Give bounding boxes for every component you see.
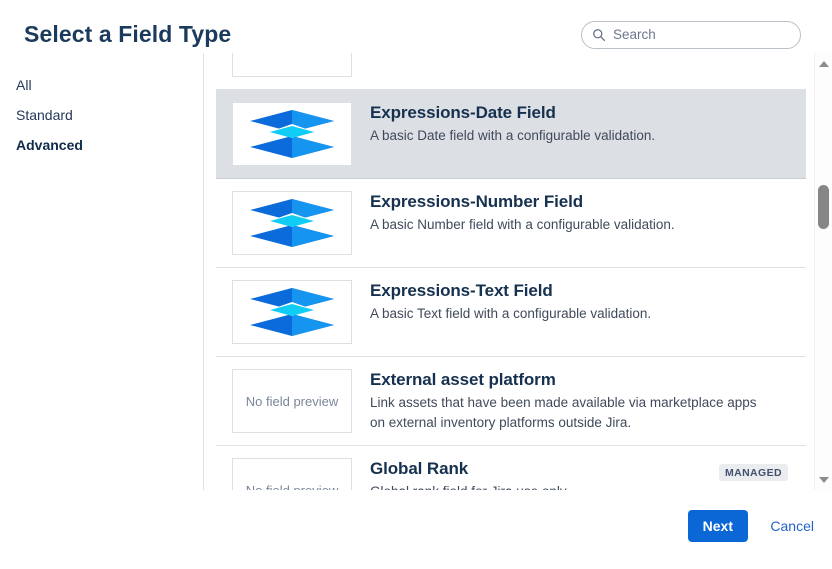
search-box[interactable] [581, 21, 801, 49]
field-type-description: Global rank field for Jira use only. [370, 482, 760, 490]
expressions-layers-icon [246, 108, 338, 160]
field-text: Expressions-Text Field A basic Text fiel… [370, 280, 806, 324]
scroll-down-arrow-icon[interactable] [815, 471, 832, 488]
page-title: Select a Field Type [24, 21, 231, 48]
expressions-layers-icon [246, 197, 338, 249]
list-scrollbar[interactable] [814, 53, 832, 490]
red-shapes-icon [233, 53, 351, 67]
field-text: Expressions-Number Field A basic Number … [370, 191, 806, 235]
field-type-list: Expressions-Date Field A basic Date fiel… [216, 53, 806, 490]
field-type-name: Expressions-Number Field [370, 191, 792, 213]
field-type-name: External asset platform [370, 369, 792, 391]
sidebar-item-standard[interactable]: Standard [0, 107, 203, 123]
dialog-footer: Next Cancel [0, 490, 832, 569]
search-input[interactable] [613, 26, 790, 44]
field-type-description: A basic Number field with a configurable… [370, 215, 760, 235]
field-text: External asset platform Link assets that… [370, 369, 806, 433]
field-preview-thumbnail [232, 53, 352, 77]
field-type-description: A basic Date field with a configurable v… [370, 126, 760, 146]
status-badge-managed: MANAGED [719, 464, 788, 481]
cancel-button[interactable]: Cancel [770, 518, 814, 534]
field-type-list-inner: Expressions-Date Field A basic Date fiel… [216, 53, 806, 490]
expressions-layers-icon [246, 286, 338, 338]
field-type-name: Expressions-Text Field [370, 280, 792, 302]
search-icon [592, 28, 606, 42]
sidebar-item-all[interactable]: All [0, 77, 203, 93]
field-type-row-global-rank[interactable]: No field preview Global Rank Global rank… [216, 446, 806, 490]
field-type-description: A basic Text field with a configurable v… [370, 304, 760, 324]
field-preview-thumbnail [232, 280, 352, 344]
next-button[interactable]: Next [688, 510, 748, 542]
field-preview-thumbnail [232, 102, 352, 166]
field-type-name: Expressions-Date Field [370, 102, 792, 124]
sidebar: All Standard Advanced [0, 60, 203, 490]
field-text: Expressions-Date Field A basic Date fiel… [370, 102, 806, 146]
field-type-description: Link assets that have been made availabl… [370, 393, 760, 433]
sidebar-item-advanced[interactable]: Advanced [0, 137, 203, 153]
field-type-row-expressions-date-field[interactable]: Expressions-Date Field A basic Date fiel… [216, 90, 806, 179]
scrollbar-thumb[interactable] [818, 185, 829, 229]
scroll-up-arrow-icon[interactable] [815, 55, 832, 72]
field-preview-thumbnail: No field preview [232, 369, 352, 433]
field-type-row-external-asset-platform[interactable]: No field preview External asset platform… [216, 357, 806, 446]
dialog-header: Select a Field Type [0, 0, 832, 60]
field-preview-thumbnail: No field preview [232, 458, 352, 490]
sidebar-divider [203, 53, 204, 490]
field-type-row-expressions-number-field[interactable]: Expressions-Number Field A basic Number … [216, 179, 806, 268]
field-type-row-expressions-text-field[interactable]: Expressions-Text Field A basic Text fiel… [216, 268, 806, 357]
field-preview-thumbnail [232, 191, 352, 255]
field-type-row[interactable] [216, 53, 806, 90]
